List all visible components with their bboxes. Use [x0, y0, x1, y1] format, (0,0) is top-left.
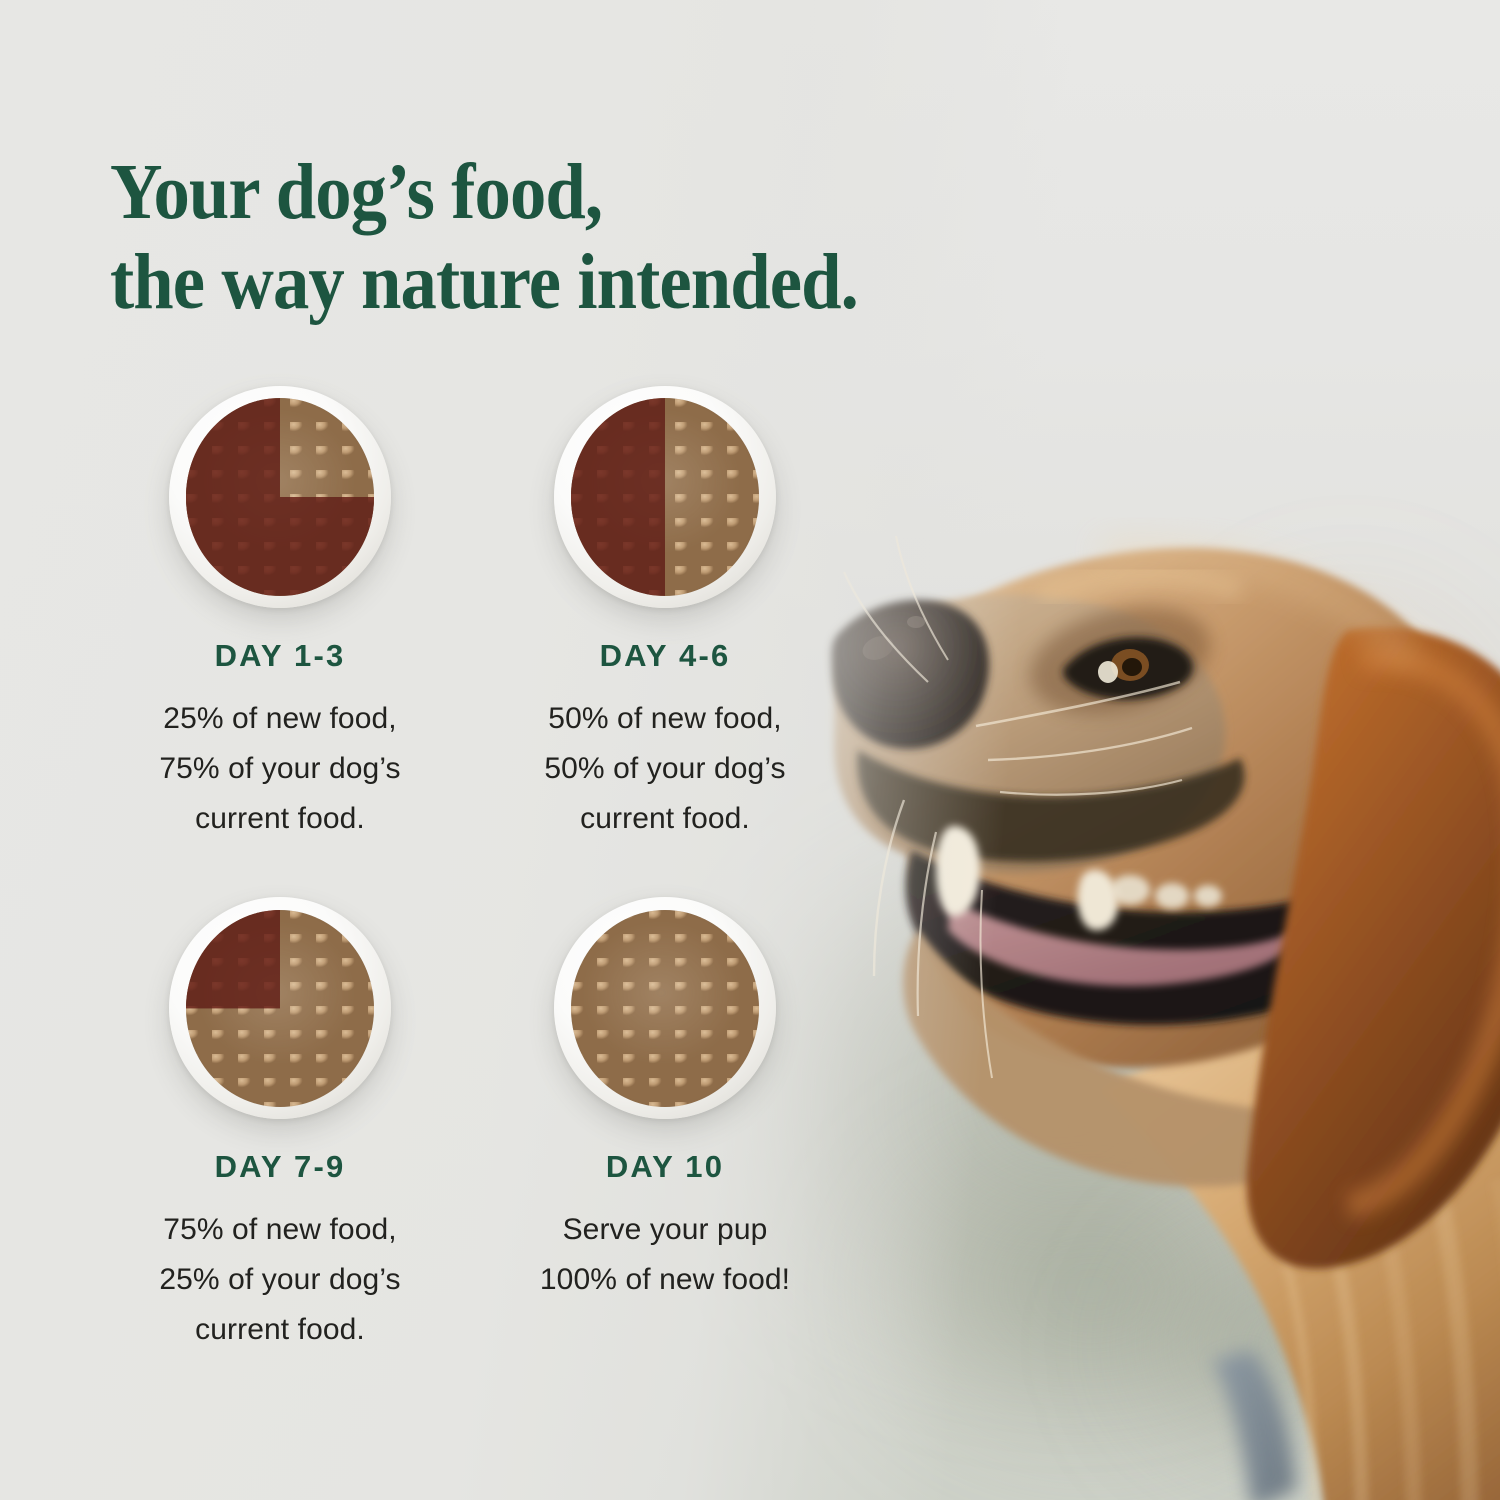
day-label: DAY 1-3 — [110, 638, 450, 674]
day-label: DAY 4-6 — [495, 638, 835, 674]
step-card-day-4-6: DAY 4-6 50% of new food, 50% of your dog… — [495, 386, 835, 843]
page-title: Your dog’s food, the way nature intended… — [110, 148, 1048, 328]
bowl-contents — [571, 398, 760, 596]
step-description: 25% of new food, 75% of your dog’s curre… — [110, 694, 450, 843]
step-description: 50% of new food, 50% of your dog’s curre… — [495, 694, 835, 843]
food-bowl-day-1-3 — [169, 386, 391, 608]
step-description: 75% of new food, 25% of your dog’s curre… — [110, 1205, 450, 1354]
step-card-day-10: DAY 10 Serve your pup 100% of new food! — [495, 897, 835, 1354]
step-description: Serve your pup 100% of new food! — [495, 1205, 835, 1305]
content-panel: Your dog’s food, the way nature intended… — [0, 0, 860, 1500]
step-card-day-1-3: DAY 1-3 25% of new food, 75% of your dog… — [110, 386, 450, 843]
step-card-day-7-9: DAY 7-9 75% of new food, 25% of your dog… — [110, 897, 450, 1354]
new-food-kibble — [571, 910, 760, 1108]
food-bowl-day-7-9 — [169, 897, 391, 1119]
food-bowl-day-10 — [554, 897, 776, 1119]
bowl-contents — [186, 910, 375, 1108]
bowl-contents — [186, 398, 375, 596]
day-label: DAY 7-9 — [110, 1149, 450, 1185]
transition-steps-grid: DAY 1-3 25% of new food, 75% of your dog… — [0, 386, 860, 1355]
day-label: DAY 10 — [495, 1149, 835, 1185]
bowl-contents — [571, 910, 760, 1108]
promo-canvas: Your dog’s food, the way nature intended… — [0, 0, 1500, 1500]
food-bowl-day-4-6 — [554, 386, 776, 608]
